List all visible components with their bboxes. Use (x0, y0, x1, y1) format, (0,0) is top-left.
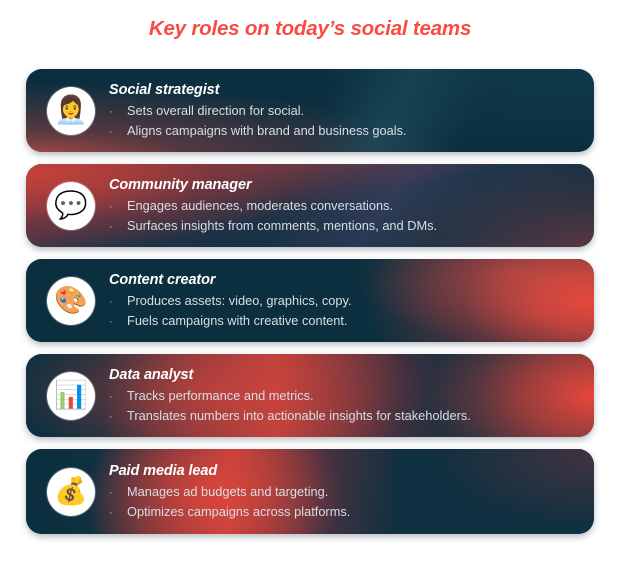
role-card[interactable]: 🎨 Content creator · Produces assets: vid… (26, 259, 594, 342)
role-bullet-item: · Fuels campaigns with creative content. (109, 311, 352, 331)
role-icon-money-bag-icon: 💰 (47, 468, 95, 516)
role-title: Content creator (109, 271, 352, 289)
role-bullet-text: Produces assets: video, graphics, copy. (127, 291, 352, 310)
role-card[interactable]: 💬 Community manager · Engages audiences,… (26, 164, 594, 247)
role-bullet-text: Fuels campaigns with creative content. (127, 311, 348, 330)
bullet-dot-icon: · (109, 294, 127, 311)
bullet-dot-icon: · (109, 104, 127, 121)
role-bullet-text: Manages ad budgets and targeting. (127, 482, 328, 501)
role-bullet-item: · Translates numbers into actionable ins… (109, 406, 471, 426)
role-bullet-item: · Surfaces insights from comments, menti… (109, 216, 437, 236)
bullet-dot-icon: · (109, 199, 127, 216)
role-bullet-item: · Engages audiences, moderates conversat… (109, 196, 437, 216)
role-title: Paid media lead (109, 462, 350, 480)
role-bullet-list: · Produces assets: video, graphics, copy… (109, 291, 352, 330)
role-bullet-text: Sets overall direction for social. (127, 101, 304, 120)
role-bullet-list: · Engages audiences, moderates conversat… (109, 196, 437, 235)
bullet-dot-icon: · (109, 314, 127, 331)
role-bullet-text: Aligns campaigns with brand and business… (127, 121, 407, 140)
role-bullet-text: Tracks performance and metrics. (127, 386, 314, 405)
role-bullet-text: Engages audiences, moderates conversatio… (127, 196, 393, 215)
role-icon-artist-palette-icon: 🎨 (47, 277, 95, 325)
role-title: Social strategist (109, 81, 407, 99)
role-card[interactable]: 💰 Paid media lead · Manages ad budgets a… (26, 449, 594, 534)
role-bullet-list: · Sets overall direction for social. · A… (109, 101, 407, 140)
bullet-dot-icon: · (109, 219, 127, 236)
role-bullet-item: · Produces assets: video, graphics, copy… (109, 291, 352, 311)
role-bullet-list: · Manages ad budgets and targeting. · Op… (109, 482, 350, 521)
role-bullet-list: · Tracks performance and metrics. · Tran… (109, 386, 471, 425)
role-bullet-text: Optimizes campaigns across platforms. (127, 502, 350, 521)
role-icon-woman-office-worker-icon: 👩‍💼 (47, 87, 95, 135)
role-bullet-item: · Tracks performance and metrics. (109, 386, 471, 406)
bullet-dot-icon: · (109, 505, 127, 522)
bullet-dot-icon: · (109, 124, 127, 141)
role-card[interactable]: 👩‍💼 Social strategist · Sets overall dir… (26, 69, 594, 152)
page-title: Key roles on today’s social teams (0, 17, 620, 41)
role-icon-bar-chart-icon: 📊 (47, 372, 95, 420)
role-bullet-item: · Aligns campaigns with brand and busine… (109, 121, 407, 141)
bullet-dot-icon: · (109, 485, 127, 502)
infographic-page: Key roles on today’s social teams 👩‍💼 So… (0, 0, 620, 568)
role-title: Data analyst (109, 366, 471, 384)
role-card[interactable]: 📊 Data analyst · Tracks performance and … (26, 354, 594, 437)
role-bullet-text: Surfaces insights from comments, mention… (127, 216, 437, 235)
role-title: Community manager (109, 176, 437, 194)
role-bullet-item: · Sets overall direction for social. (109, 101, 407, 121)
role-bullet-text: Translates numbers into actionable insig… (127, 406, 471, 425)
role-bullet-item: · Manages ad budgets and targeting. (109, 482, 350, 502)
role-card-list: 👩‍💼 Social strategist · Sets overall dir… (26, 69, 594, 546)
bullet-dot-icon: · (109, 409, 127, 426)
role-icon-speech-balloon-icon: 💬 (47, 182, 95, 230)
bullet-dot-icon: · (109, 389, 127, 406)
role-bullet-item: · Optimizes campaigns across platforms. (109, 502, 350, 522)
